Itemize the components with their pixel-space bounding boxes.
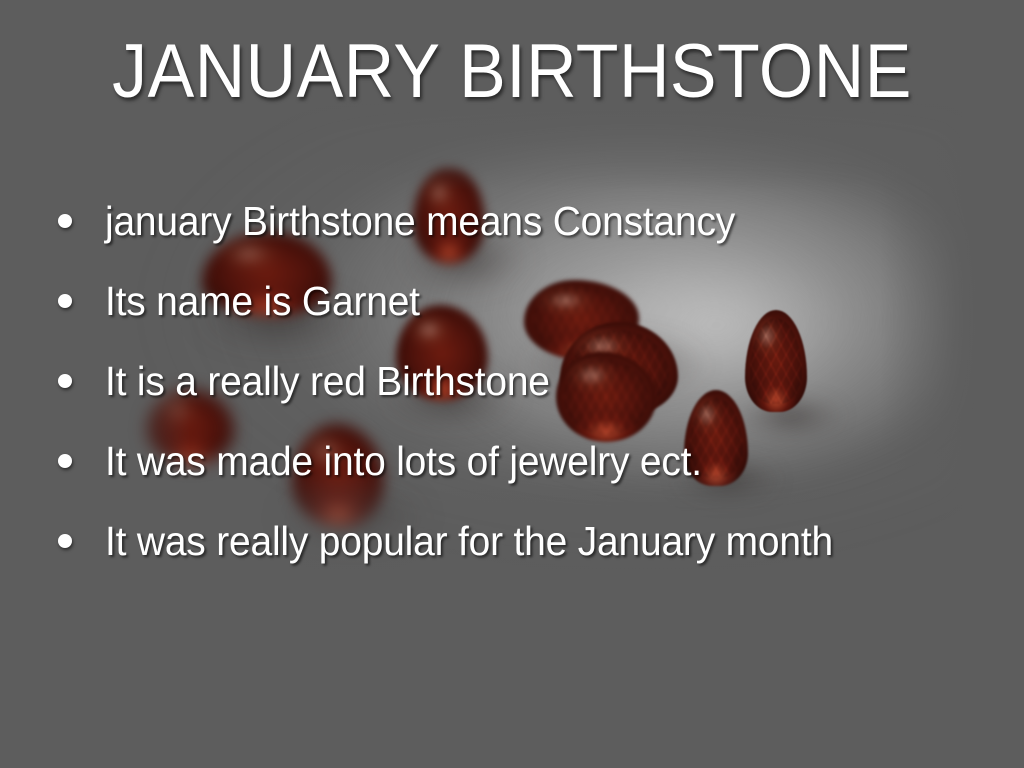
bullet-text: It is a really red Birthstone [105,356,963,406]
presentation-slide: JANUARY BIRTHSTONE january Birthstone me… [0,0,1024,768]
list-item: It was really popular for the January mo… [58,516,1008,596]
bullet-dot-icon [58,374,72,388]
list-item: january Birthstone means Constancy [58,196,1008,276]
bullet-dot-icon [58,294,72,308]
slide-title: JANUARY BIRTHSTONE [41,28,983,116]
bullet-text: It was really popular for the January mo… [105,516,963,566]
list-item: It was made into lots of jewelry ect. [58,436,1008,516]
bullet-text: Its name is Garnet [105,276,963,326]
bullet-text: january Birthstone means Constancy [105,196,963,246]
bullet-text: It was made into lots of jewelry ect. [105,436,963,486]
bullet-list: january Birthstone means Constancy Its n… [58,196,1008,596]
bullet-dot-icon [58,214,72,228]
list-item: Its name is Garnet [58,276,1008,356]
bullet-dot-icon [58,454,72,468]
bullet-dot-icon [58,534,72,548]
list-item: It is a really red Birthstone [58,356,1008,436]
